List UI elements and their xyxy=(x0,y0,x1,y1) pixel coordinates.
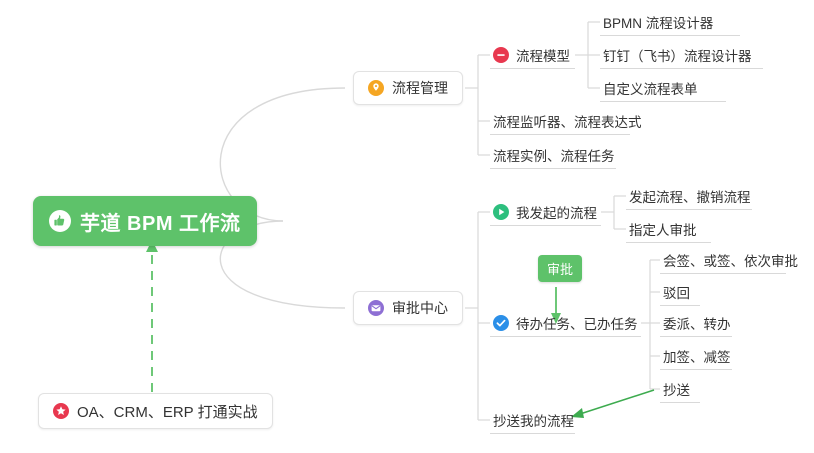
node-instance-task[interactable]: 流程实例、流程任务 xyxy=(490,142,618,168)
underline-instance-task xyxy=(490,168,616,169)
underline-dingtalk-designer xyxy=(600,68,763,69)
mindmap-canvas: 芋道 BPM 工作流 流程管理 流程模型 BPMN 流程设计器 钉钉（飞书）流程… xyxy=(0,0,814,453)
bottom-note-label: OA、CRM、ERP 打通实战 xyxy=(77,401,258,422)
minus-circle-icon xyxy=(493,47,509,63)
underline-process-model xyxy=(490,68,575,69)
underline-listener-expression xyxy=(490,134,630,135)
leaf-reject[interactable]: 驳回 xyxy=(660,279,693,305)
node-process-model[interactable]: 流程模型 xyxy=(490,42,573,68)
root-node[interactable]: 芋道 BPM 工作流 xyxy=(33,196,257,246)
leaf-add-remove-sign[interactable]: 加签、减签 xyxy=(660,343,734,369)
leaf-countersign[interactable]: 会签、或签、依次审批 xyxy=(660,247,801,273)
underline-my-initiated xyxy=(490,225,601,226)
node-label-cc-to-me: 抄送我的流程 xyxy=(493,410,574,430)
underline-bpmn-designer xyxy=(600,35,740,36)
leaf-dingtalk-designer[interactable]: 钉钉（飞书）流程设计器 xyxy=(600,42,755,68)
branch-label-approval-center: 审批中心 xyxy=(392,298,448,318)
underline-countersign xyxy=(660,273,786,274)
leaf-label-custom-form: 自定义流程表单 xyxy=(603,78,698,98)
leaf-label-bpmn-designer: BPMN 流程设计器 xyxy=(603,12,713,32)
leaf-bpmn-designer[interactable]: BPMN 流程设计器 xyxy=(600,9,716,35)
underline-add-remove-sign xyxy=(660,369,732,370)
star-icon xyxy=(53,403,69,419)
node-label-my-initiated: 我发起的流程 xyxy=(516,202,597,222)
leaf-cc[interactable]: 抄送 xyxy=(660,376,693,402)
underline-cc-to-me xyxy=(490,433,575,434)
leaf-custom-form[interactable]: 自定义流程表单 xyxy=(600,75,701,101)
approval-tag[interactable]: 审批 xyxy=(538,255,582,282)
leaf-label-assigned-approval: 指定人审批 xyxy=(629,219,697,239)
approval-tag-label: 审批 xyxy=(547,262,573,277)
leaf-label-add-remove-sign: 加签、减签 xyxy=(663,346,731,366)
thumbs-up-icon xyxy=(49,210,71,232)
leaf-label-reject: 驳回 xyxy=(663,282,690,302)
location-pin-icon xyxy=(368,80,384,96)
underline-todo-done-tasks xyxy=(490,336,641,337)
branch-node-approval-center[interactable]: 审批中心 xyxy=(353,291,463,325)
branch-node-process-management[interactable]: 流程管理 xyxy=(353,71,463,105)
underline-assigned-approval xyxy=(626,242,711,243)
node-cc-to-me[interactable]: 抄送我的流程 xyxy=(490,407,577,433)
leaf-label-start-cancel-process: 发起流程、撤销流程 xyxy=(629,186,751,206)
branch-label-process-management: 流程管理 xyxy=(392,78,448,98)
leaf-delegate-transfer[interactable]: 委派、转办 xyxy=(660,310,734,336)
root-label: 芋道 BPM 工作流 xyxy=(80,207,241,236)
check-circle-icon xyxy=(493,315,509,331)
node-todo-done-tasks[interactable]: 待办任务、已办任务 xyxy=(490,310,641,336)
node-my-initiated[interactable]: 我发起的流程 xyxy=(490,199,600,225)
leaf-label-cc: 抄送 xyxy=(663,379,690,399)
node-listener-expression[interactable]: 流程监听器、流程表达式 xyxy=(490,108,645,134)
mail-circle-icon xyxy=(368,300,384,316)
leaf-label-countersign: 会签、或签、依次审批 xyxy=(663,250,798,270)
play-circle-icon xyxy=(493,204,509,220)
leaf-label-dingtalk-designer: 钉钉（飞书）流程设计器 xyxy=(603,45,752,65)
node-label-instance-task: 流程实例、流程任务 xyxy=(493,145,615,165)
underline-reject xyxy=(660,305,700,306)
node-label-listener-expression: 流程监听器、流程表达式 xyxy=(493,111,642,131)
underline-custom-form xyxy=(600,101,726,102)
node-label-todo-done-tasks: 待办任务、已办任务 xyxy=(516,313,638,333)
leaf-assigned-approval[interactable]: 指定人审批 xyxy=(626,216,700,242)
node-label-process-model: 流程模型 xyxy=(516,45,570,65)
underline-delegate-transfer xyxy=(660,336,732,337)
underline-start-cancel-process xyxy=(626,209,752,210)
leaf-label-delegate-transfer: 委派、转办 xyxy=(663,313,731,333)
underline-cc xyxy=(660,402,700,403)
bottom-note-node[interactable]: OA、CRM、ERP 打通实战 xyxy=(38,393,273,429)
leaf-start-cancel-process[interactable]: 发起流程、撤销流程 xyxy=(626,183,754,209)
